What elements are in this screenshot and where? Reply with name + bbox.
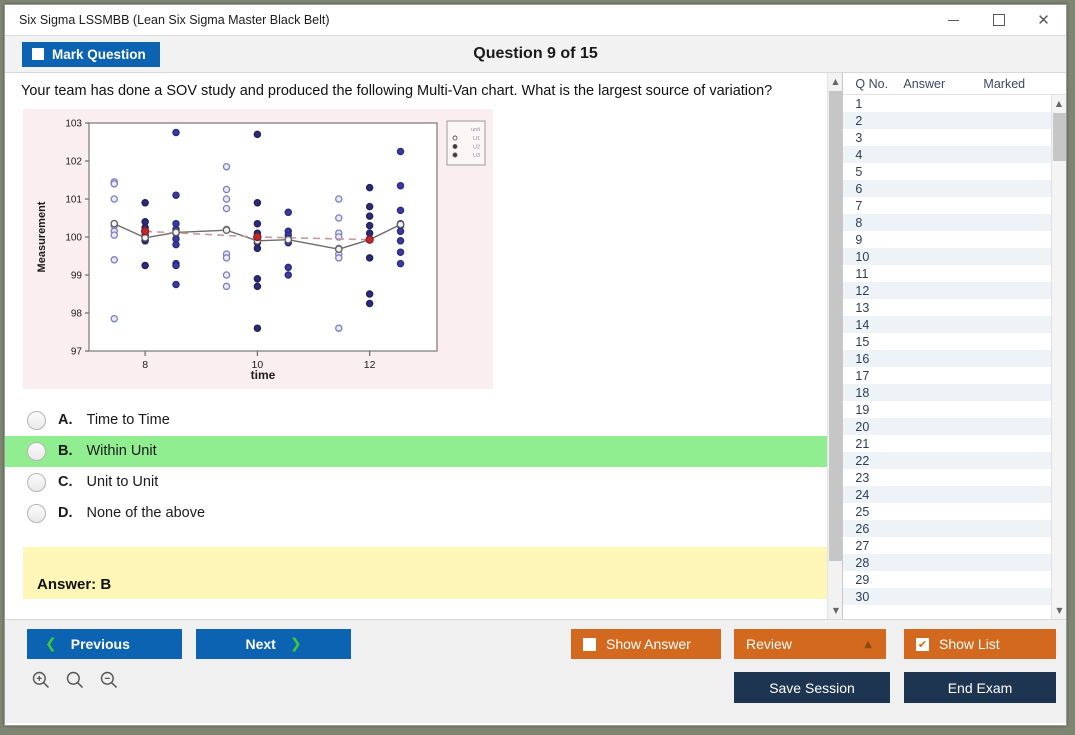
mark-question-button[interactable]: Mark Question bbox=[22, 42, 160, 67]
option-text: Unit to Unit bbox=[87, 474, 159, 490]
svg-text:U3: U3 bbox=[473, 153, 480, 159]
answer-option-c[interactable]: C.Unit to Unit bbox=[5, 467, 842, 498]
list-scroll-down-icon[interactable]: ▼ bbox=[1052, 602, 1066, 619]
cell-qno: 13 bbox=[843, 301, 903, 315]
svg-text:99: 99 bbox=[71, 270, 83, 281]
show-list-button[interactable]: Show List bbox=[904, 629, 1056, 659]
answer-reveal-bar: Answer: B bbox=[23, 547, 835, 599]
cell-qno: 6 bbox=[843, 182, 903, 196]
question-list-row[interactable]: 12 bbox=[843, 282, 1066, 299]
next-button[interactable]: Next ❯ bbox=[196, 629, 351, 659]
main-scrollbar-thumb[interactable] bbox=[829, 91, 842, 561]
answer-option-a[interactable]: A.Time to Time bbox=[5, 405, 842, 436]
review-label: Review bbox=[746, 636, 792, 652]
cell-qno: 29 bbox=[843, 573, 903, 587]
show-answer-label: Show Answer bbox=[606, 636, 691, 652]
radio-icon[interactable] bbox=[27, 473, 46, 492]
svg-text:98: 98 bbox=[71, 308, 83, 319]
cell-qno: 9 bbox=[843, 233, 903, 247]
cell-qno: 15 bbox=[843, 335, 903, 349]
question-list-row[interactable]: 19 bbox=[843, 401, 1066, 418]
scroll-down-icon[interactable]: ▼ bbox=[828, 602, 842, 619]
option-letter: C. bbox=[58, 474, 73, 490]
question-pane: Your team has done a SOV study and produ… bbox=[5, 73, 842, 619]
zoom-reset-icon[interactable] bbox=[65, 670, 85, 690]
question-header-bar: Mark Question Question 9 of 15 bbox=[5, 36, 1066, 73]
question-list-row[interactable]: 18 bbox=[843, 384, 1066, 401]
question-list-row[interactable]: 24 bbox=[843, 486, 1066, 503]
previous-label: Previous bbox=[71, 636, 130, 652]
question-list-row[interactable]: 8 bbox=[843, 214, 1066, 231]
maximize-icon[interactable] bbox=[976, 5, 1021, 36]
mark-question-checkbox-icon bbox=[32, 48, 44, 60]
radio-icon[interactable] bbox=[27, 504, 46, 523]
end-exam-label: End Exam bbox=[948, 680, 1013, 696]
title-bar: Six Sigma LSSMBB (Lean Six Sigma Master … bbox=[5, 5, 1066, 36]
question-list-scrollbar-thumb[interactable] bbox=[1053, 113, 1066, 161]
window-title: Six Sigma LSSMBB (Lean Six Sigma Master … bbox=[5, 13, 931, 27]
cell-qno: 7 bbox=[843, 199, 903, 213]
svg-text:102: 102 bbox=[65, 156, 82, 167]
question-list-row[interactable]: 13 bbox=[843, 299, 1066, 316]
list-scroll-up-icon[interactable]: ▲ bbox=[1052, 95, 1066, 112]
question-list-row[interactable]: 21 bbox=[843, 435, 1066, 452]
zoom-in-icon[interactable] bbox=[31, 670, 51, 690]
question-list-row[interactable]: 14 bbox=[843, 316, 1066, 333]
column-header-answer: Answer bbox=[903, 77, 983, 91]
chevron-right-icon: ❯ bbox=[290, 636, 302, 652]
column-header-qno: Q No. bbox=[843, 77, 903, 91]
svg-text:97: 97 bbox=[71, 346, 83, 357]
chevron-up-icon: ▲ bbox=[864, 639, 872, 650]
cell-qno: 21 bbox=[843, 437, 903, 451]
zoom-out-icon[interactable] bbox=[99, 670, 119, 690]
question-list-row[interactable]: 15 bbox=[843, 333, 1066, 350]
question-list-row[interactable]: 26 bbox=[843, 520, 1066, 537]
exam-application-window: Six Sigma LSSMBB (Lean Six Sigma Master … bbox=[4, 4, 1067, 726]
chart-legend: unit U1U2U3 bbox=[447, 121, 485, 165]
question-list-row[interactable]: 29 bbox=[843, 571, 1066, 588]
cell-qno: 10 bbox=[843, 250, 903, 264]
mark-question-label: Mark Question bbox=[52, 47, 146, 62]
cell-qno: 30 bbox=[843, 590, 903, 604]
option-letter: D. bbox=[58, 505, 73, 521]
cell-qno: 14 bbox=[843, 318, 903, 332]
svg-text:12: 12 bbox=[364, 359, 376, 371]
option-text: None of the above bbox=[87, 505, 206, 521]
cell-qno: 2 bbox=[843, 114, 903, 128]
question-list-row[interactable]: 4 bbox=[843, 146, 1066, 163]
column-header-marked: Marked bbox=[983, 77, 1053, 91]
svg-text:101: 101 bbox=[65, 194, 82, 205]
question-list-row[interactable]: 9 bbox=[843, 231, 1066, 248]
question-list-body: ▲ ▼ 123456789101112131415161718192021222… bbox=[843, 95, 1066, 619]
option-text: Within Unit bbox=[87, 443, 157, 459]
save-session-button[interactable]: Save Session bbox=[734, 672, 890, 703]
cell-qno: 5 bbox=[843, 165, 903, 179]
show-answer-checkbox-icon bbox=[583, 638, 596, 651]
question-list-row[interactable]: 25 bbox=[843, 503, 1066, 520]
minimize-icon[interactable] bbox=[931, 5, 976, 36]
question-list-header: Q No. Answer Marked bbox=[843, 73, 1066, 95]
question-list-row[interactable]: 1 bbox=[843, 95, 1066, 112]
multi-vari-chart-svg: 979899100101102103 81012 Measurement tim… bbox=[23, 109, 493, 389]
multi-vari-chart: 979899100101102103 81012 Measurement tim… bbox=[23, 109, 493, 389]
cell-qno: 23 bbox=[843, 471, 903, 485]
main-scrollbar[interactable]: ▲ ▼ bbox=[827, 73, 842, 619]
question-list-row[interactable]: 5 bbox=[843, 163, 1066, 180]
scroll-up-icon[interactable]: ▲ bbox=[828, 73, 842, 90]
cell-qno: 18 bbox=[843, 386, 903, 400]
question-list-row[interactable]: 23 bbox=[843, 469, 1066, 486]
option-letter: B. bbox=[58, 443, 73, 459]
question-list-panel: Q No. Answer Marked ▲ ▼ 1234567891011121… bbox=[842, 73, 1066, 619]
show-list-label: Show List bbox=[939, 636, 1000, 652]
show-list-checkbox-icon bbox=[916, 638, 929, 651]
cell-qno: 24 bbox=[843, 488, 903, 502]
radio-icon[interactable] bbox=[27, 411, 46, 430]
question-list-scrollbar[interactable]: ▲ ▼ bbox=[1051, 95, 1066, 619]
question-list-row[interactable]: 27 bbox=[843, 537, 1066, 554]
option-letter: A. bbox=[58, 412, 73, 428]
footer-toolbar: ❮ Previous Next ❯ Show Answer Review ▲ S… bbox=[5, 619, 1066, 723]
question-text: Your team has done a SOV study and produ… bbox=[5, 73, 842, 106]
window-controls: ✕ bbox=[931, 5, 1066, 36]
review-dropdown-button[interactable]: Review ▲ bbox=[734, 629, 886, 659]
cell-qno: 4 bbox=[843, 148, 903, 162]
close-icon[interactable]: ✕ bbox=[1021, 5, 1066, 36]
answer-option-d[interactable]: D.None of the above bbox=[5, 498, 842, 529]
question-list-row[interactable]: 3 bbox=[843, 129, 1066, 146]
answer-option-b[interactable]: B.Within Unit bbox=[5, 436, 842, 467]
cell-qno: 28 bbox=[843, 556, 903, 570]
zoom-controls bbox=[31, 670, 119, 690]
question-list-row[interactable]: 28 bbox=[843, 554, 1066, 571]
cell-qno: 16 bbox=[843, 352, 903, 366]
question-list-row[interactable]: 7 bbox=[843, 197, 1066, 214]
cell-qno: 26 bbox=[843, 522, 903, 536]
question-list-row[interactable]: 6 bbox=[843, 180, 1066, 197]
cell-qno: 17 bbox=[843, 369, 903, 383]
save-session-label: Save Session bbox=[769, 680, 855, 696]
svg-text:U1: U1 bbox=[473, 136, 480, 142]
question-list-row[interactable]: 20 bbox=[843, 418, 1066, 435]
page-title: Question 9 of 15 bbox=[5, 45, 1066, 63]
show-answer-button[interactable]: Show Answer bbox=[571, 629, 721, 659]
svg-text:8: 8 bbox=[142, 359, 148, 371]
question-list-row[interactable]: 16 bbox=[843, 350, 1066, 367]
cell-qno: 25 bbox=[843, 505, 903, 519]
y-axis-label: Measurement bbox=[36, 201, 48, 272]
question-list-row[interactable]: 10 bbox=[843, 248, 1066, 265]
end-exam-button[interactable]: End Exam bbox=[904, 672, 1056, 703]
svg-text:103: 103 bbox=[65, 118, 82, 129]
option-text: Time to Time bbox=[87, 412, 170, 428]
cell-qno: 22 bbox=[843, 454, 903, 468]
cell-qno: 12 bbox=[843, 284, 903, 298]
radio-icon[interactable] bbox=[27, 442, 46, 461]
cell-qno: 1 bbox=[843, 97, 903, 111]
cell-qno: 27 bbox=[843, 539, 903, 553]
question-list-row[interactable]: 2 bbox=[843, 112, 1066, 129]
question-list-row[interactable]: 17 bbox=[843, 367, 1066, 384]
question-list-row[interactable]: 11 bbox=[843, 265, 1066, 282]
x-axis-label: time bbox=[251, 368, 276, 382]
svg-text:100: 100 bbox=[65, 232, 82, 243]
cell-qno: 11 bbox=[843, 267, 903, 281]
answer-options: A.Time to TimeB.Within UnitC.Unit to Uni… bbox=[5, 405, 842, 529]
question-list-row[interactable]: 30 bbox=[843, 588, 1066, 605]
cell-qno: 19 bbox=[843, 403, 903, 417]
cell-qno: 3 bbox=[843, 131, 903, 145]
cell-qno: 8 bbox=[843, 216, 903, 230]
question-list-row[interactable]: 22 bbox=[843, 452, 1066, 469]
previous-button[interactable]: ❮ Previous bbox=[27, 629, 182, 659]
cell-qno: 20 bbox=[843, 420, 903, 434]
next-label: Next bbox=[245, 636, 275, 652]
legend-title: unit bbox=[471, 127, 480, 133]
chevron-left-icon: ❮ bbox=[45, 636, 57, 652]
body-container: Your team has done a SOV study and produ… bbox=[5, 73, 1066, 619]
svg-text:U2: U2 bbox=[473, 144, 480, 150]
answer-text: Answer: B bbox=[37, 576, 111, 593]
